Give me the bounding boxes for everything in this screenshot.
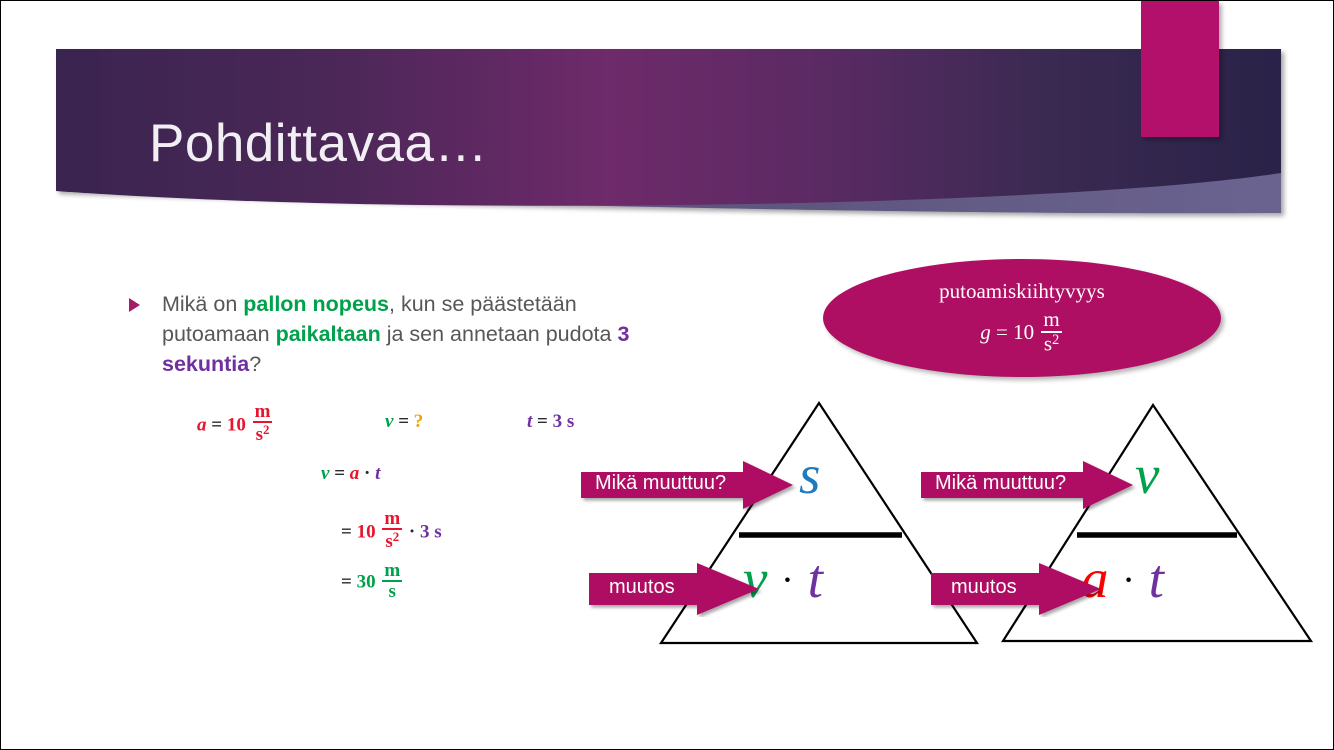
- ellipse-equation: g = 10 m s2: [980, 309, 1063, 354]
- given-a-symbol: a: [197, 414, 207, 435]
- solution-line-3: = 30 m s: [341, 561, 442, 603]
- sol3-unit-num: m: [382, 561, 402, 580]
- sol2-dot: ·: [409, 521, 415, 542]
- callout-muutos-left[interactable]: muutos: [587, 561, 765, 617]
- given-acceleration: a = 10 m s2: [197, 402, 274, 445]
- list-item: Mikä on pallon nopeus, kun se päästetään…: [129, 289, 669, 379]
- given-v-symbol: v: [385, 411, 393, 432]
- ellipse-unit-den: s2: [1041, 331, 1061, 355]
- callout-label: Mikä muuttuu?: [935, 472, 1066, 495]
- sol2-unit: m s2: [382, 509, 402, 552]
- solution-line-1: v = a · t: [321, 463, 422, 505]
- solution-line-2: = 10 m s2 · 3 s: [341, 509, 442, 551]
- triangle-numerator: v: [1135, 447, 1159, 502]
- callout-label: Mikä muuttuu?: [595, 472, 726, 495]
- sol1-equals: =: [334, 463, 345, 484]
- sol1-lhs: v: [321, 463, 329, 484]
- given-values-row: a = 10 m s2 v = ? t = 3 s: [197, 399, 667, 447]
- sol2-time: 3 s: [420, 521, 442, 542]
- given-time: t = 3 s: [527, 411, 574, 433]
- sol2-unit-den-base: s: [385, 531, 392, 552]
- given-a-unit-num: m: [253, 402, 273, 421]
- sol2-value: 10: [357, 521, 376, 542]
- given-a-unit: m s2: [253, 402, 273, 445]
- ellipse-equals: =: [996, 320, 1008, 344]
- sol3-value: 30: [357, 572, 376, 593]
- sol2-unit-den-exp: 2: [393, 529, 399, 544]
- triangle-den-t: t: [808, 548, 823, 609]
- solution-steps: v = a · t = 10 m s2 · 3 s = 30 m s: [321, 463, 422, 589]
- triangle-den-dot: ·: [1122, 559, 1135, 601]
- sol3-unit-den: s: [382, 580, 402, 601]
- ellipse-value: 10: [1013, 320, 1034, 344]
- sol2-unit-den: s2: [382, 528, 402, 551]
- bullet-part-6: ?: [249, 352, 261, 376]
- triangle-den-t: t: [1149, 548, 1164, 609]
- given-t-equals: =: [537, 411, 548, 432]
- ellipse-unit-den-exp: 2: [1052, 332, 1059, 348]
- gravity-callout-ellipse: putoamiskiihtyvyys g = 10 m s2: [823, 259, 1221, 377]
- given-t-value: 3 s: [553, 411, 575, 432]
- bullet-list: Mikä on pallon nopeus, kun se päästetään…: [129, 289, 669, 379]
- ellipse-unit: m s2: [1041, 309, 1061, 354]
- callout-mika-muuttuu-left[interactable]: Mikä muuttuu?: [579, 459, 797, 511]
- callout-muutos-right[interactable]: muutos: [929, 561, 1107, 617]
- bullet-item-text: Mikä on pallon nopeus, kun se päästetään…: [162, 289, 669, 379]
- given-a-unit-den-exp: 2: [263, 422, 269, 437]
- pink-accent-bar: [1141, 1, 1219, 137]
- slide: Pohdittavaa… Mikä on pallon nopeus, kun …: [0, 0, 1334, 750]
- given-v-value: ?: [414, 411, 424, 432]
- ellipse-unit-den-base: s: [1044, 331, 1052, 355]
- given-a-unit-den-base: s: [256, 424, 263, 445]
- sol1-a: a: [350, 463, 360, 484]
- given-a-equals: =: [211, 414, 222, 435]
- triangle-bullet-icon: [129, 298, 140, 312]
- callout-mika-muuttuu-right[interactable]: Mikä muuttuu?: [919, 459, 1137, 511]
- bullet-part-1: pallon nopeus: [243, 292, 389, 316]
- ellipse-g-symbol: g: [980, 320, 991, 344]
- sol2-unit-num: m: [382, 509, 402, 528]
- given-velocity: v = ?: [385, 411, 423, 433]
- ellipse-unit-num: m: [1041, 309, 1061, 330]
- bullet-part-3: paikaltaan: [276, 322, 381, 346]
- sol3-unit: m s: [382, 561, 402, 602]
- given-v-equals: =: [398, 411, 409, 432]
- sol3-equals: =: [341, 572, 352, 593]
- callout-label: muutos: [609, 576, 675, 599]
- sol2-equals: =: [341, 521, 352, 542]
- callout-label: muutos: [951, 576, 1017, 599]
- bullet-part-0: Mikä on: [162, 292, 243, 316]
- given-t-symbol: t: [527, 411, 532, 432]
- given-a-unit-den: s2: [253, 421, 273, 444]
- given-a-value: 10: [227, 414, 246, 435]
- ellipse-title: putoamiskiihtyvyys: [939, 281, 1105, 302]
- triangle-numerator: s: [799, 447, 820, 502]
- slide-header-banner: Pohdittavaa…: [1, 1, 1334, 251]
- page-title: Pohdittavaa…: [149, 113, 488, 174]
- sol1-dot: ·: [364, 463, 370, 484]
- triangle-den-dot: ·: [781, 559, 794, 601]
- sol1-t: t: [375, 463, 380, 484]
- bullet-part-4: ja sen annetaan pudota: [381, 322, 618, 346]
